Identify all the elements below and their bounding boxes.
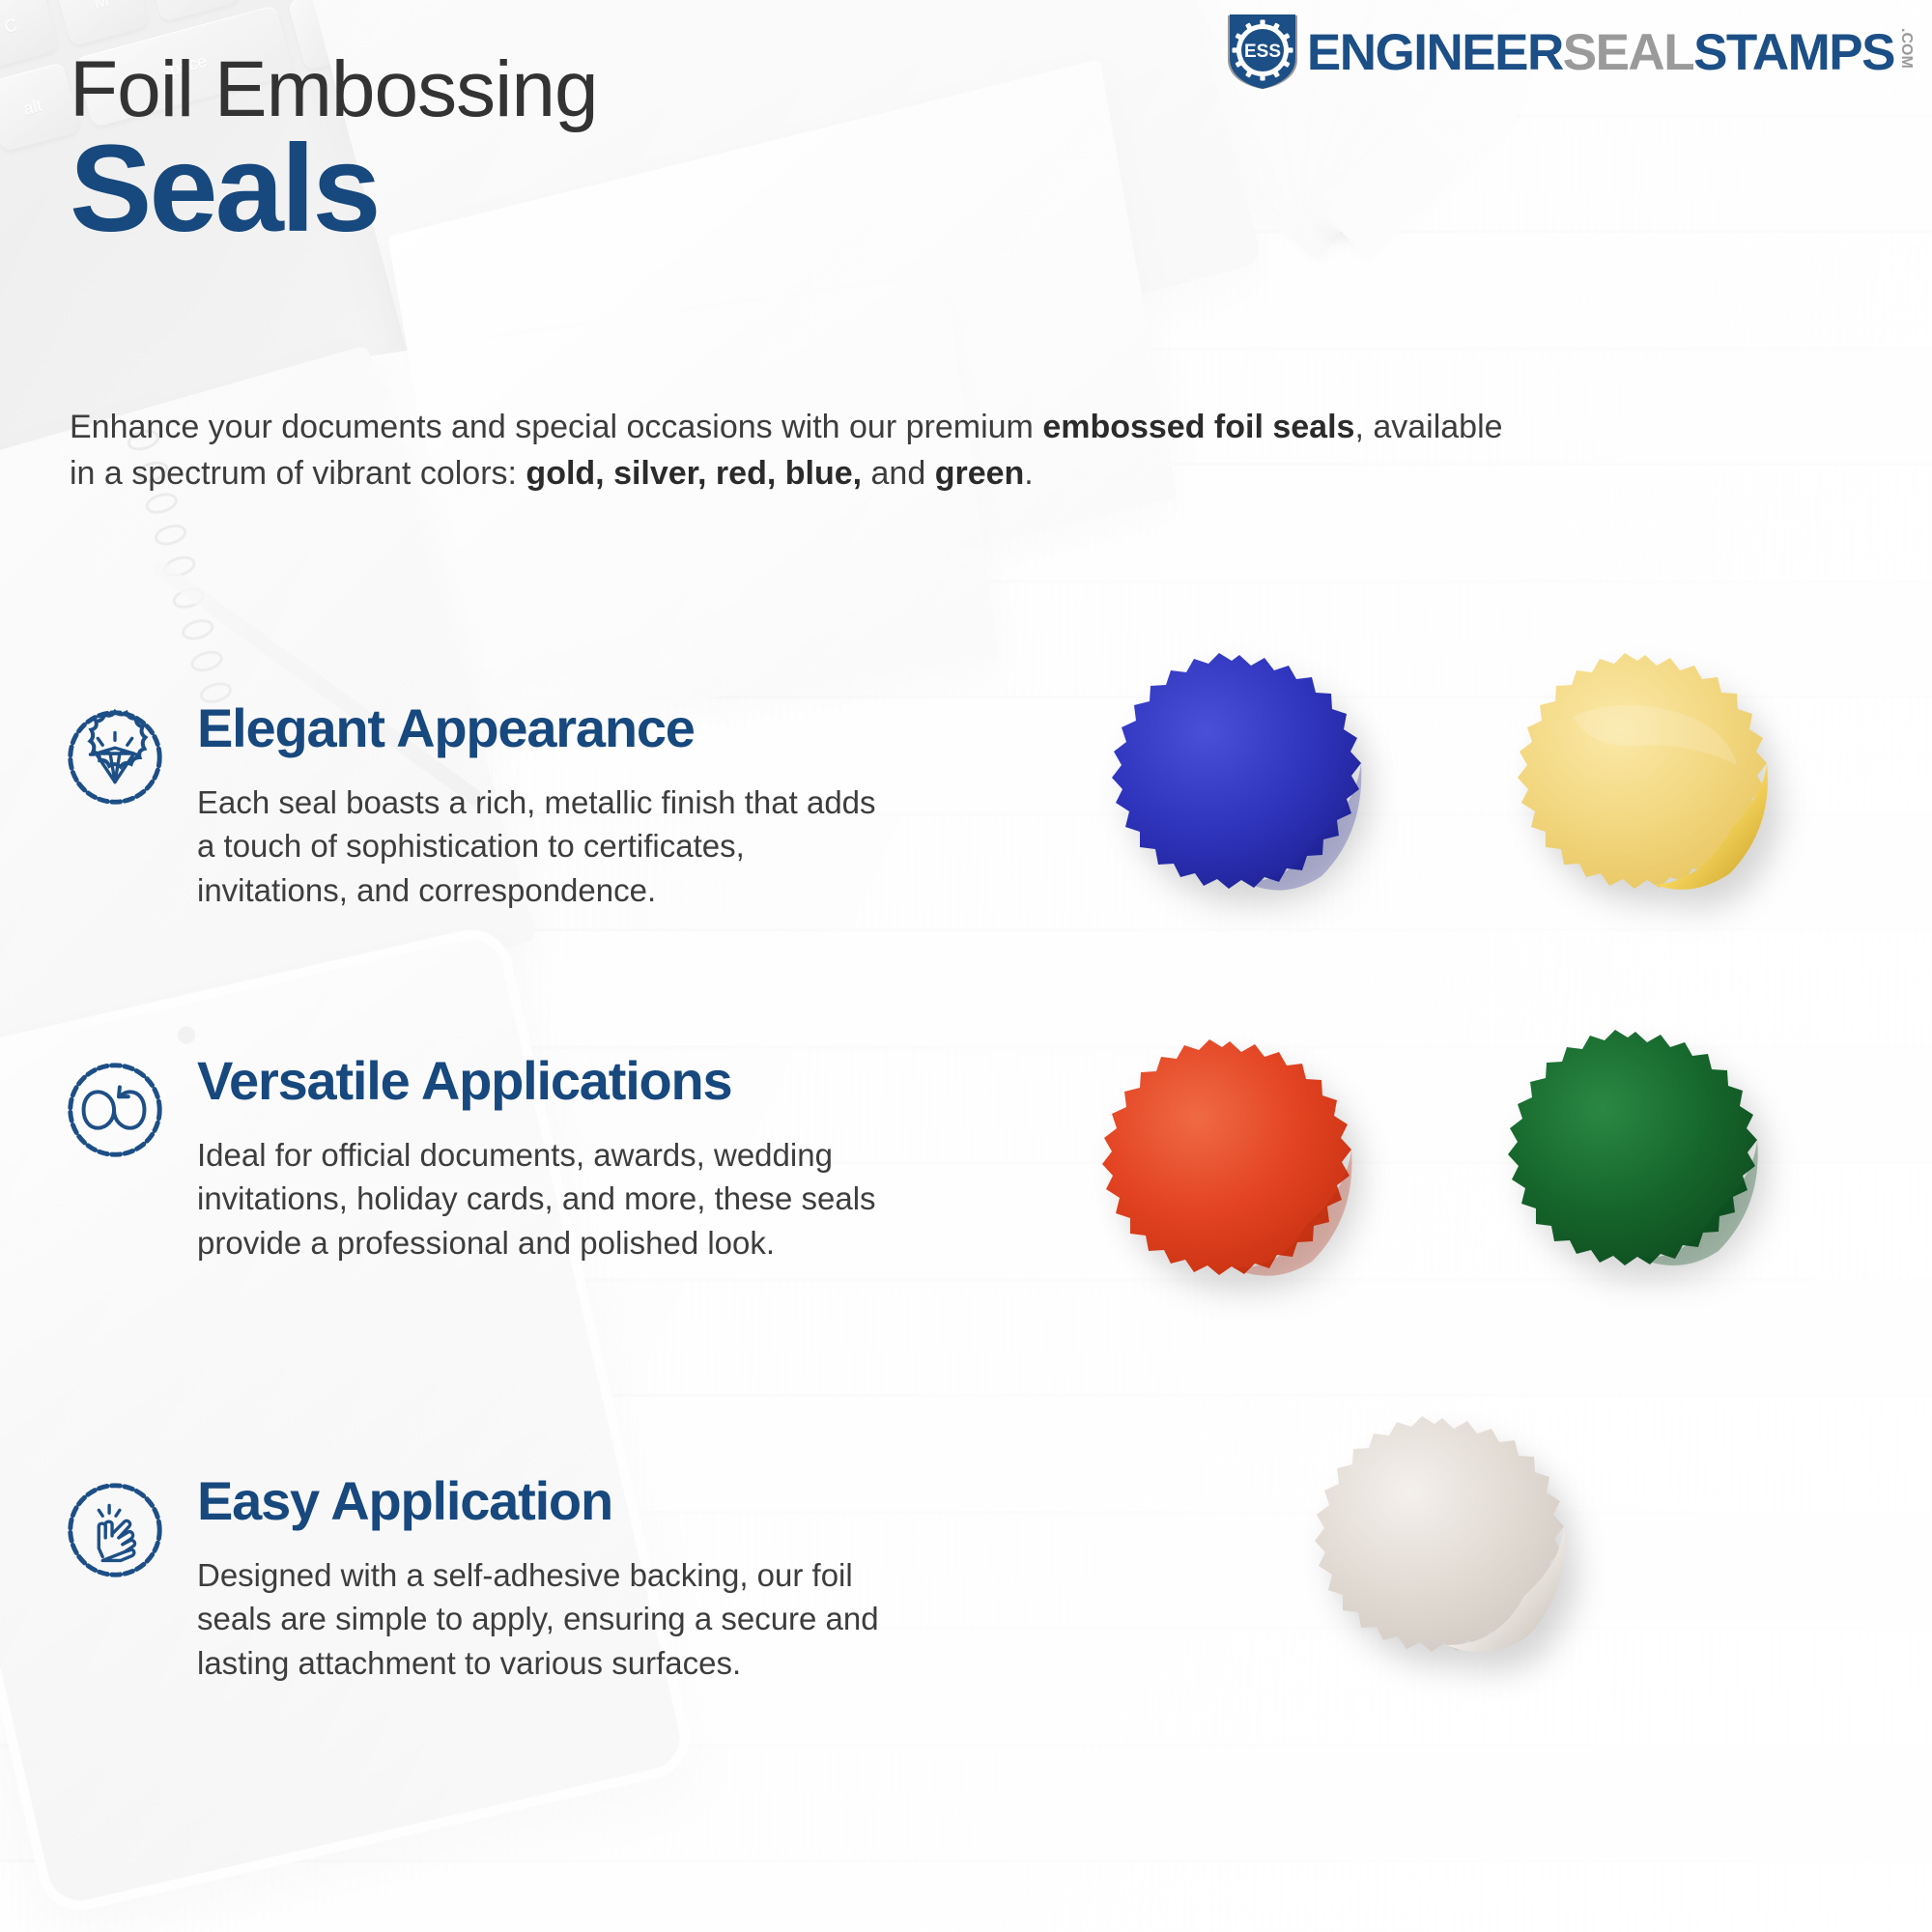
ess-shield-gear-logo-icon: ESS bbox=[1226, 14, 1299, 91]
intro-text-1: Enhance your documents and special occas… bbox=[70, 409, 1042, 445]
foil-seal-blue bbox=[1090, 649, 1389, 939]
feature-versatile-applications: Versatile Applications Ideal for officia… bbox=[58, 1053, 927, 1264]
intro-bold-colors: gold, silver, red, blue, bbox=[526, 455, 862, 492]
intro-text-4: . bbox=[1024, 455, 1033, 492]
foil-seal-silver bbox=[1293, 1412, 1592, 1702]
diamond-gem-icon bbox=[58, 700, 172, 814]
hand-tap-icon bbox=[58, 1473, 172, 1587]
feature-elegant-appearance: Elegant Appearance Each seal boasts a ri… bbox=[58, 700, 927, 912]
feature-title: Versatile Applications bbox=[197, 1053, 927, 1110]
feature-title: Easy Application bbox=[197, 1473, 927, 1530]
foil-seal-red bbox=[1080, 1036, 1379, 1325]
infographic-canvas: ЁЙЦ УКЕ НГШ ЩЗХ Ъ ФЫВ АПР ОЛД ЖЭ↵ ЯЧС МИ… bbox=[0, 0, 1932, 1932]
feature-title: Elegant Appearance bbox=[197, 700, 927, 757]
foil-seal-green bbox=[1486, 1026, 1785, 1316]
feature-easy-application: Easy Application Designed with a self-ad… bbox=[58, 1473, 927, 1685]
logo-wordmark: ENGINEERSEALSTAMPS bbox=[1307, 27, 1894, 78]
brand-logo[interactable]: ESS ENGINEERSEALSTAMPS .COM bbox=[1226, 14, 1915, 91]
logo-word-engineer: ENGINEER bbox=[1307, 27, 1563, 78]
title-line-2: Seals bbox=[70, 128, 1036, 251]
logo-initials: ESS bbox=[1244, 42, 1281, 62]
intro-bold-seals: embossed foil seals bbox=[1042, 409, 1354, 445]
feature-body: Ideal for official documents, awards, we… bbox=[197, 1133, 893, 1265]
intro-paragraph: Enhance your documents and special occas… bbox=[70, 404, 1509, 497]
logo-word-seal: SEAL bbox=[1563, 27, 1693, 78]
feature-body: Each seal boasts a rich, metallic finish… bbox=[197, 781, 893, 913]
intro-bold-green: green bbox=[935, 455, 1025, 492]
logo-word-stamps: STAMPS bbox=[1693, 27, 1894, 78]
infinity-loop-icon bbox=[58, 1053, 172, 1167]
page-title: Foil Embossing Seals bbox=[70, 48, 1036, 251]
feature-body: Designed with a self-adhesive backing, o… bbox=[197, 1553, 893, 1686]
logo-dotcom-tld: .COM bbox=[1897, 28, 1915, 69]
foil-seal-gold bbox=[1495, 649, 1795, 939]
intro-text-3: and bbox=[862, 455, 935, 492]
